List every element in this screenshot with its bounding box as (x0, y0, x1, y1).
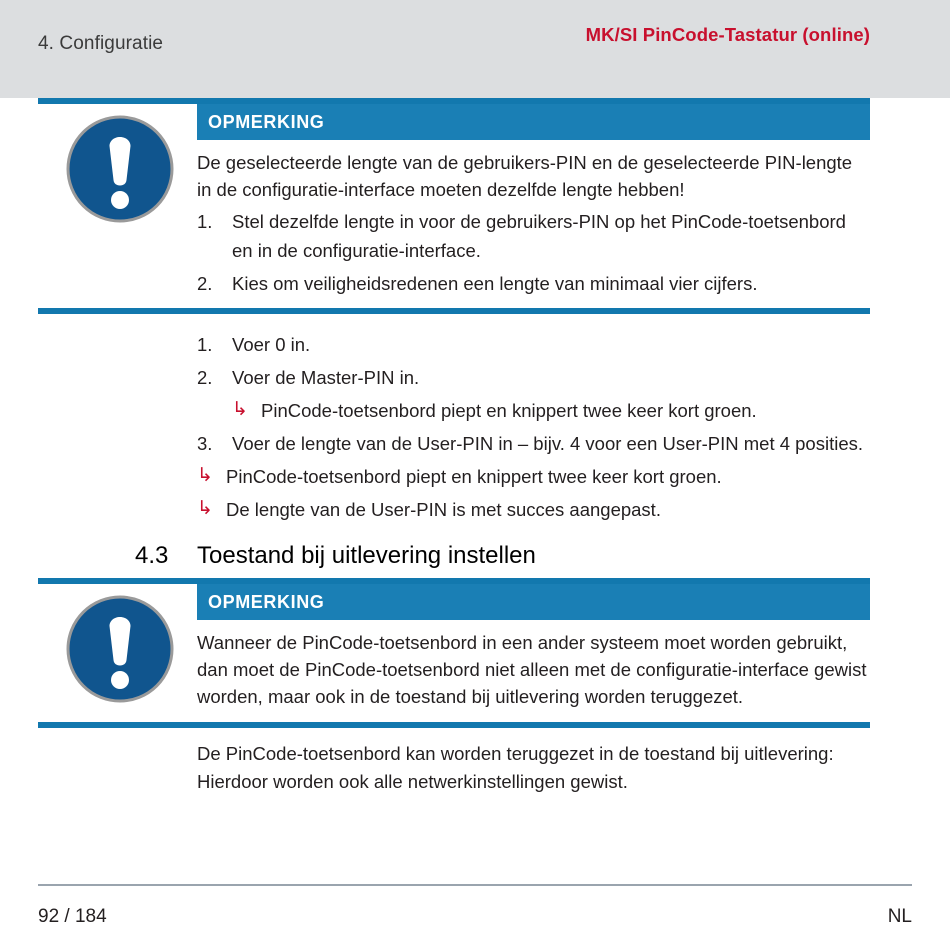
notice-label: OPMERKING (197, 104, 870, 140)
procedure-step-list: 1. Voer 0 in. 2. Voer de Master-PIN in. … (197, 330, 870, 458)
footer-language-code: NL (888, 906, 912, 928)
page-footer: 92 / 184 NL (0, 884, 950, 950)
procedure-result-item: ↳ PinCode-toetsenbord piept en knippert … (232, 396, 870, 425)
procedure-result-sublist: ↳ PinCode-toetsenbord piept en knippert … (232, 396, 870, 425)
notice-step-list: 1. Stel dezelfde lengte in voor de gebru… (197, 207, 870, 298)
list-marker: 3. (197, 429, 223, 458)
procedure-step-item: 1. Voer 0 in. (197, 330, 870, 359)
list-text: Voer 0 in. (232, 334, 310, 355)
notice-box-pin-length: OPMERKING De geselecteerde lengte van de… (0, 98, 950, 314)
notice-box-factory-reset: OPMERKING Wanneer de PinCode-toetsenbord… (0, 578, 950, 728)
mandatory-exclamation-icon (65, 594, 175, 704)
notice-main-column: OPMERKING Wanneer de PinCode-toetsenbord… (197, 584, 870, 710)
notice-bottom-rule (38, 308, 870, 314)
procedure-step-item: 2. Voer de Master-PIN in. ↳ PinCode-toet… (197, 363, 870, 425)
notice-paragraph: De geselecteerde lengte van de gebruiker… (197, 149, 870, 203)
list-text: Kies om veiligheidsredenen een lengte va… (232, 273, 757, 294)
procedure-final-results: ↳ PinCode-toetsenbord piept en knippert … (197, 462, 870, 524)
list-text: De lengte van de User-PIN is met succes … (226, 499, 661, 520)
mandatory-exclamation-icon (65, 114, 175, 224)
notice-body: OPMERKING De geselecteerde lengte van de… (0, 104, 950, 298)
notice-text: De geselecteerde lengte van de gebruiker… (197, 140, 870, 298)
footer-rule (38, 884, 912, 886)
list-marker: 1. (197, 330, 223, 359)
list-marker: 2. (197, 269, 223, 298)
list-text: PinCode-toetsenbord piept en knippert tw… (226, 466, 722, 487)
procedure-list-block: 1. Voer 0 in. 2. Voer de Master-PIN in. … (197, 314, 870, 524)
list-text: Voer de lengte van de User-PIN in – bijv… (232, 433, 863, 454)
notice-main-column: OPMERKING De geselecteerde lengte van de… (197, 104, 870, 298)
arrow-result-icon: ↳ (197, 461, 213, 490)
footer-page-number: 92 / 184 (38, 906, 107, 928)
notice-paragraph: Wanneer de PinCode-toetsenbord in een an… (197, 629, 870, 710)
notice-text: Wanneer de PinCode-toetsenbord in een an… (197, 620, 870, 710)
section-number: 4.3 (135, 540, 197, 572)
page-header: 4. Configuratie MK/SI PinCode-Tastatur (… (0, 0, 950, 98)
procedure-result-item: ↳ De lengte van de User-PIN is met succe… (197, 495, 870, 524)
list-marker: 2. (197, 363, 223, 392)
section-heading: 4.3Toestand bij uitlevering instellen (135, 524, 950, 578)
header-document-title: MK/SI PinCode-Tastatur (online) (450, 22, 870, 47)
arrow-result-icon: ↳ (197, 494, 213, 523)
notice-label: OPMERKING (197, 584, 870, 620)
procedure-step-item: 3. Voer de lengte van de User-PIN in – b… (197, 429, 870, 458)
list-marker: 1. (197, 207, 223, 236)
notice-step-item: 2. Kies om veiligheidsredenen een lengte… (197, 269, 870, 298)
list-text: Voer de Master-PIN in. (232, 367, 419, 388)
closing-paragraph-block: De PinCode-toetsenbord kan worden terugg… (197, 728, 870, 796)
list-text: PinCode-toetsenbord piept en knippert tw… (261, 400, 757, 421)
notice-body: OPMERKING Wanneer de PinCode-toetsenbord… (0, 584, 950, 710)
closing-paragraph: De PinCode-toetsenbord kan worden terugg… (197, 740, 870, 796)
list-text: Stel dezelfde lengte in voor de gebruike… (232, 211, 846, 261)
header-chapter-label: 4. Configuratie (38, 33, 163, 55)
notice-bottom-rule (38, 722, 870, 728)
section-title: Toestand bij uitlevering instellen (197, 542, 536, 569)
notice-step-item: 1. Stel dezelfde lengte in voor de gebru… (197, 207, 870, 265)
procedure-result-item: ↳ PinCode-toetsenbord piept en knippert … (197, 462, 870, 491)
page-content: OPMERKING De geselecteerde lengte van de… (0, 98, 950, 796)
arrow-result-icon: ↳ (232, 395, 248, 424)
